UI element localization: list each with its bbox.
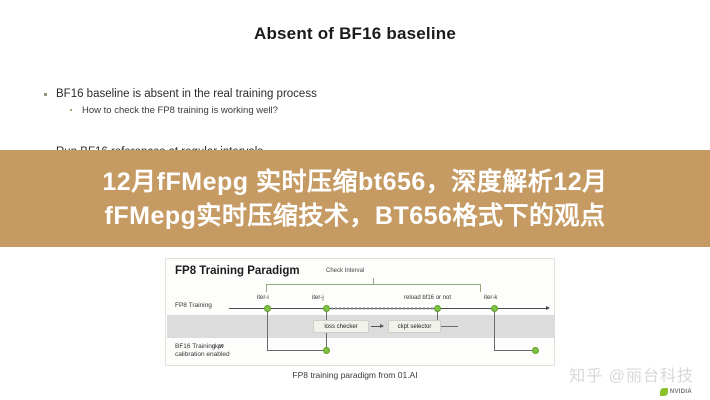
nvidia-wordmark: NVIDIA: [670, 389, 692, 395]
bullet-item: BF16 baseline is absent in the real trai…: [42, 86, 642, 103]
bullet-spacer: [42, 118, 642, 144]
ckpt-label: ckpt: [212, 344, 223, 350]
overlay-headline-line1: 12月fFMepg 实时压缩bt656，深度解析12月: [102, 166, 607, 198]
bullet-item: How to check the FP8 training is working…: [42, 103, 642, 118]
lane-label-bf16-line2: calibration enabled: [175, 351, 230, 359]
bf16-dot-iter-j: [323, 347, 330, 354]
fp8-training-paradigm-figure: FP8 Training Paradigm FP8 Training BF16 …: [165, 258, 555, 366]
ckpt-selector-box: ckpt selector: [388, 320, 441, 333]
loss-to-ckpt-arrow-icon: [371, 326, 383, 327]
figure-title: FP8 Training Paradigm: [175, 265, 300, 277]
connector-iter-k-horizontal: [494, 350, 534, 351]
check-interval-label: Check Interval: [326, 268, 364, 274]
lane-label-fp8: FP8 Training: [175, 302, 212, 310]
nvidia-eye-icon: [660, 388, 668, 396]
overlay-headline-line2: fFMepg实时压缩技术，BT656格式下的观点: [105, 200, 606, 232]
screenshot-root: Absent of BF16 baseline BF16 baseline is…: [0, 0, 710, 400]
fp8-timeline-dotted-segment: [326, 307, 436, 310]
overlay-headline: 12月fFMepg 实时压缩bt656，深度解析12月 fFMepg实时压缩技术…: [0, 150, 710, 247]
tick-label-iter-i: iter-i: [257, 295, 269, 301]
check-interval-stem: [373, 278, 374, 284]
connector-iter-i-horizontal: [267, 350, 327, 351]
check-interval-bracket: [266, 284, 481, 292]
zhihu-watermark: 知乎 @丽台科技: [569, 362, 694, 386]
watermark-text: 知乎 @丽台科技: [569, 362, 694, 386]
connector-iter-i-vertical: [267, 311, 268, 350]
tick-label-iter-k: iter-k: [484, 295, 497, 301]
connector-iter-k-vertical: [494, 311, 495, 350]
tick-label-iter-j: iter-j: [312, 295, 324, 301]
nvidia-logo: NVIDIA: [660, 388, 692, 396]
tick-label-reload-bf16: reload bf16 or not: [404, 295, 451, 301]
slide-title: Absent of BF16 baseline: [0, 24, 710, 44]
fp8-timeline-arrow-icon: [546, 306, 550, 310]
loss-checker-box: loss checker: [313, 320, 369, 333]
bf16-dot-iter-k: [532, 347, 539, 354]
